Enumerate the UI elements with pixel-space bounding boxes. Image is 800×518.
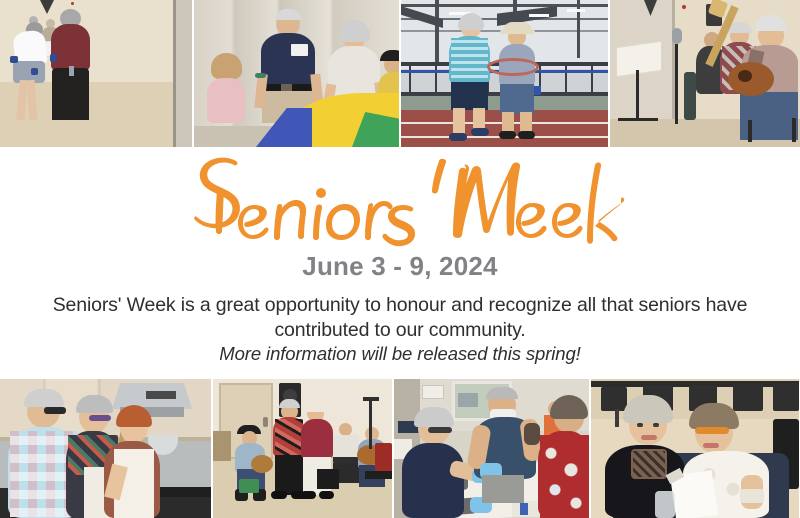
photo-parachute-play-activity xyxy=(194,0,399,147)
photo-indoor-walking-track xyxy=(401,0,608,147)
banner-title-wrap: Seniors' Week xyxy=(0,151,800,249)
photo-music-jam-session xyxy=(610,0,800,147)
photo-beanbag-toss-activity xyxy=(0,0,192,147)
photo-cooking-class xyxy=(0,379,211,518)
bottom-photo-strip xyxy=(0,379,800,518)
seniors-week-script-title: Seniors' Week xyxy=(174,151,626,247)
photo-two-women-chatting xyxy=(591,379,799,518)
photo-craft-workshop xyxy=(394,379,589,518)
seniors-week-banner: Seniors' Week xyxy=(0,0,800,518)
banner-content: Seniors' Week xyxy=(0,147,800,379)
top-photo-strip xyxy=(0,0,800,147)
event-dates: June 3 - 9, 2024 xyxy=(0,251,800,282)
banner-description: Seniors' Week is a great opportunity to … xyxy=(30,293,770,343)
photo-social-dance xyxy=(213,379,392,518)
banner-note: More information will be released this s… xyxy=(0,343,800,365)
